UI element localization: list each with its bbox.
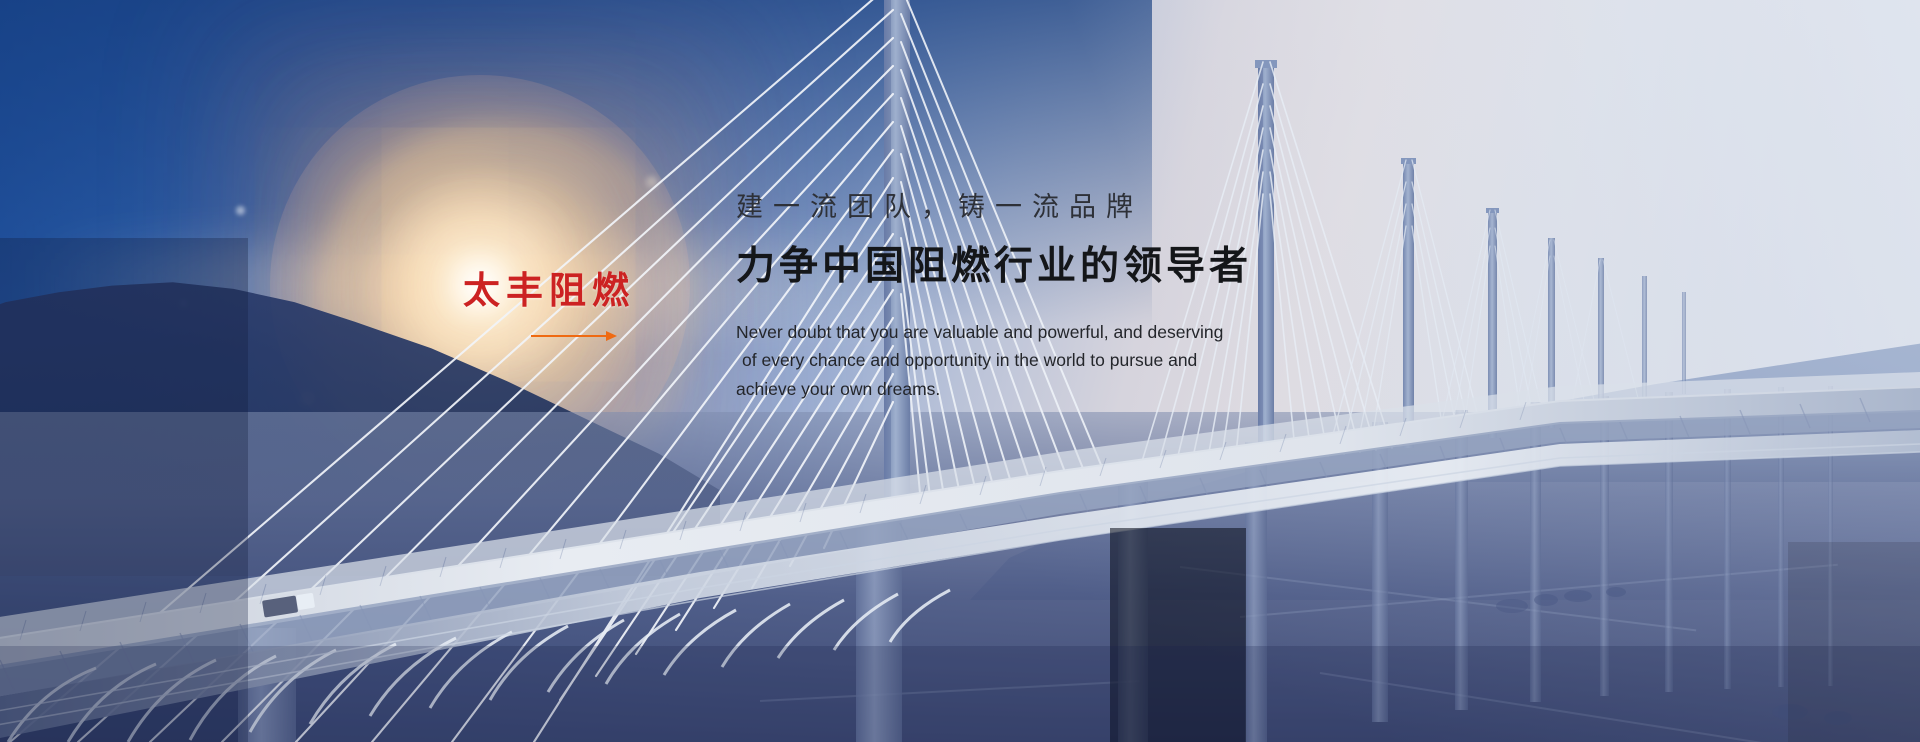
slogan-paragraph-line-3: achieve your own dreams.: [736, 375, 1336, 403]
hero-banner: 太丰阻燃 建一流团队，铸一流品牌 力争中国阻燃行业的领导者 Never doub…: [0, 0, 1920, 742]
arrow-shaft: [531, 335, 609, 337]
arrow-head: [606, 331, 617, 341]
slogan-subtitle: 建一流团队，铸一流品牌: [736, 190, 1356, 225]
slogan-title: 力争中国阻燃行业的领导者: [736, 243, 1356, 292]
brand-logo[interactable]: 太丰阻燃: [463, 272, 673, 341]
arrow-right-icon: [531, 331, 617, 341]
slogan-paragraph-line-1: Never doubt that you are valuable and po…: [736, 318, 1336, 346]
slogan-paragraph: Never doubt that you are valuable and po…: [736, 318, 1336, 403]
banner-content: 太丰阻燃 建一流团队，铸一流品牌 力争中国阻燃行业的领导者 Never doub…: [0, 0, 1920, 742]
slogan-paragraph-line-2: of every chance and opportunity in the w…: [736, 346, 1336, 374]
slogan-block: 建一流团队，铸一流品牌 力争中国阻燃行业的领导者 Never doubt tha…: [736, 190, 1356, 403]
brand-name: 太丰阻燃: [463, 272, 673, 309]
